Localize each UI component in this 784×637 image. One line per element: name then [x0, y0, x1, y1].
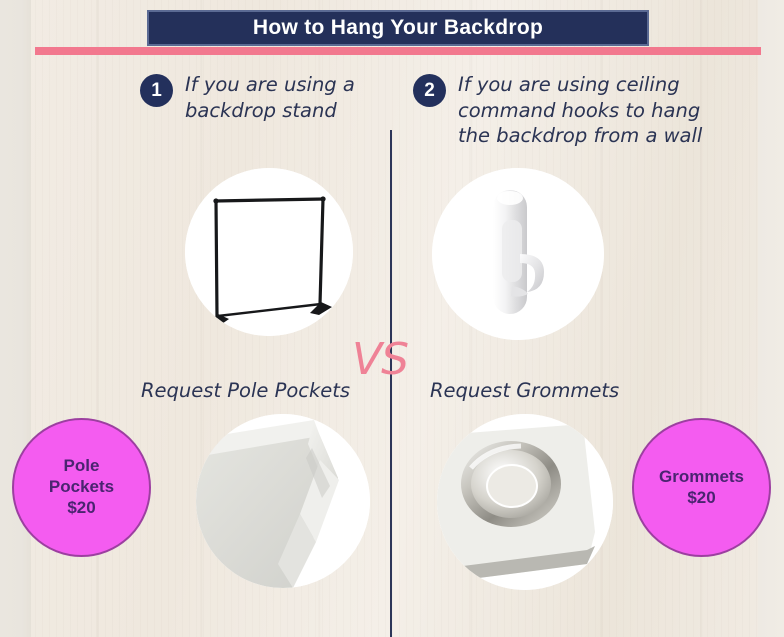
caption-pole-pockets: Request Pole Pockets [141, 379, 350, 402]
step-1-number-badge: 1 [140, 74, 173, 107]
page-title: How to Hang Your Backdrop [253, 16, 543, 40]
badge-right-price: $20 [687, 488, 715, 509]
step-2: 2 If you are using ceiling command hooks… [413, 72, 713, 149]
backdrop-stand-photo [185, 168, 353, 336]
caption-grommets: Request Grommets [430, 379, 619, 402]
badge-left-line2: Pockets [49, 477, 114, 498]
grommet-photo [437, 414, 613, 590]
pole-pocket-photo [196, 414, 370, 588]
badge-left-line1: Pole [64, 456, 100, 477]
pole-pocket-fabric-icon [196, 414, 370, 588]
backdrop-stand-icon [185, 168, 353, 336]
title-bar: How to Hang Your Backdrop [147, 10, 649, 46]
step-1-text: If you are using a backdrop stand [185, 72, 390, 123]
vs-label: VS [352, 334, 408, 385]
command-hook-icon [432, 168, 604, 340]
badge-left-price: $20 [67, 498, 95, 519]
command-hook-photo [432, 168, 604, 340]
infographic-canvas: How to Hang Your Backdrop 1 If you are u… [0, 0, 784, 637]
badge-right-line1: Grommets [659, 467, 744, 488]
step-1: 1 If you are using a backdrop stand [140, 72, 390, 123]
price-badge-grommets: Grommets $20 [632, 418, 771, 557]
price-badge-pole-pockets: Pole Pockets $20 [12, 418, 151, 557]
step-2-text: If you are using ceiling command hooks t… [458, 72, 713, 149]
left-edge-strip [0, 0, 31, 637]
pink-divider-rule [35, 47, 761, 55]
right-edge-strip [758, 0, 784, 637]
grommet-eyelet-icon [437, 414, 613, 590]
step-2-number-badge: 2 [413, 74, 446, 107]
